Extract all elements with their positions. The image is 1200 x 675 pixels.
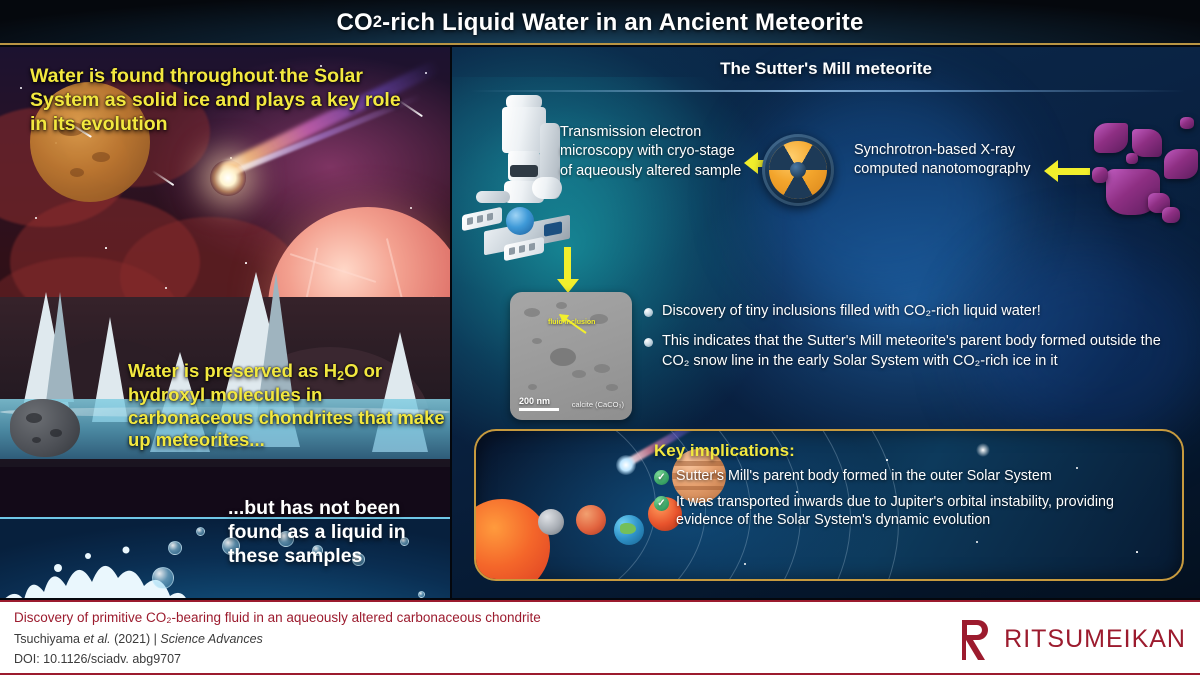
list-item: This indicates that the Sutter's Mill me… xyxy=(644,332,1192,371)
list-item-text: This indicates that the Sutter's Mill me… xyxy=(662,333,1161,368)
title-bar: CO2-rich Liquid Water in an Ancient Mete… xyxy=(0,0,1200,45)
list-item-text: Sutter's Mill's parent body formed in th… xyxy=(676,468,1052,484)
paper-year: (2021) | xyxy=(114,632,157,646)
list-item-text: Discovery of tiny inclusions filled with… xyxy=(662,303,1041,319)
planet-venus xyxy=(576,505,606,535)
check-icon: ✓ xyxy=(654,496,669,511)
left-caption-bottom: ...but has not been found as a liquid in… xyxy=(228,497,443,568)
tem-micrograph: fluid inclusion 200 nm calcite (CaCO₃) xyxy=(510,292,632,420)
check-icon: ✓ xyxy=(654,470,669,485)
title-subscript: 2 xyxy=(373,13,382,32)
title-prefix: CO xyxy=(336,9,372,37)
title-suffix: -rich Liquid Water in an Ancient Meteori… xyxy=(382,9,863,37)
list-item: Discovery of tiny inclusions filled with… xyxy=(644,302,1192,321)
list-item: ✓It was transported inwards due to Jupit… xyxy=(654,493,1169,530)
right-panel-heading: The Sutter's Mill meteorite xyxy=(452,59,1200,79)
planet-mercury xyxy=(538,509,564,535)
left-panel: Water is found throughout the Solar Syst… xyxy=(0,47,450,598)
logo-r-icon xyxy=(959,618,995,660)
left-caption-middle-a: Water is preserved as H xyxy=(128,360,337,381)
journal-name: Science Advances xyxy=(160,632,262,646)
logo-text: RITSUMEIKAN xyxy=(1004,625,1186,654)
radiation-icon xyxy=(762,134,834,206)
mineral-label: calcite (CaCO₃) xyxy=(572,400,624,409)
scale-bar-label: 200 nm xyxy=(519,396,550,406)
etal: et al. xyxy=(83,632,110,646)
list-item: ✓Sutter's Mill's parent body formed in t… xyxy=(654,467,1169,486)
scale-bar xyxy=(519,408,559,411)
meteorite-rock xyxy=(10,399,80,457)
planet-earth xyxy=(614,515,644,545)
paper-authors: Tsuchiyama et al. (2021) | Science Advan… xyxy=(14,632,263,646)
left-caption-top: Water is found throughout the Solar Syst… xyxy=(30,65,410,136)
right-panel: The Sutter's Mill meteorite Transmission… xyxy=(452,47,1200,598)
bullet-dot-icon xyxy=(644,308,653,317)
comet xyxy=(180,142,450,292)
key-implications-box: Key implications: ✓Sutter's Mill's paren… xyxy=(474,429,1184,581)
left-caption-middle: Water is preserved as H2O or hydroxyl mo… xyxy=(128,360,448,452)
ritsumeikan-logo: RITSUMEIKAN xyxy=(959,618,1186,660)
findings-list: Discovery of tiny inclusions filled with… xyxy=(644,302,1192,382)
synchrotron-caption: Synchrotron-based X-ray computed nanotom… xyxy=(854,141,1034,180)
paper-doi: DOI: 10.1126/sciadv. abg9707 xyxy=(14,652,181,666)
key-implications-title: Key implications: xyxy=(654,441,795,461)
meteorite-crystals xyxy=(1092,109,1200,234)
bullet-dot-icon xyxy=(644,338,653,347)
page-title: CO2-rich Liquid Water in an Ancient Mete… xyxy=(0,0,1200,45)
infographic-root: CO2-rich Liquid Water in an Ancient Mete… xyxy=(0,0,1200,675)
list-item-text: It was transported inwards due to Jupite… xyxy=(676,494,1114,529)
author-name: Tsuchiyama xyxy=(14,632,80,646)
key-implications-list: ✓Sutter's Mill's parent body formed in t… xyxy=(654,467,1169,537)
tem-caption: Transmission electron microscopy with cr… xyxy=(560,123,745,181)
header-divider xyxy=(470,90,1185,92)
footer-citation: Discovery of primitive CO₂-bearing fluid… xyxy=(0,600,1200,675)
paper-title: Discovery of primitive CO₂-bearing fluid… xyxy=(14,610,541,625)
